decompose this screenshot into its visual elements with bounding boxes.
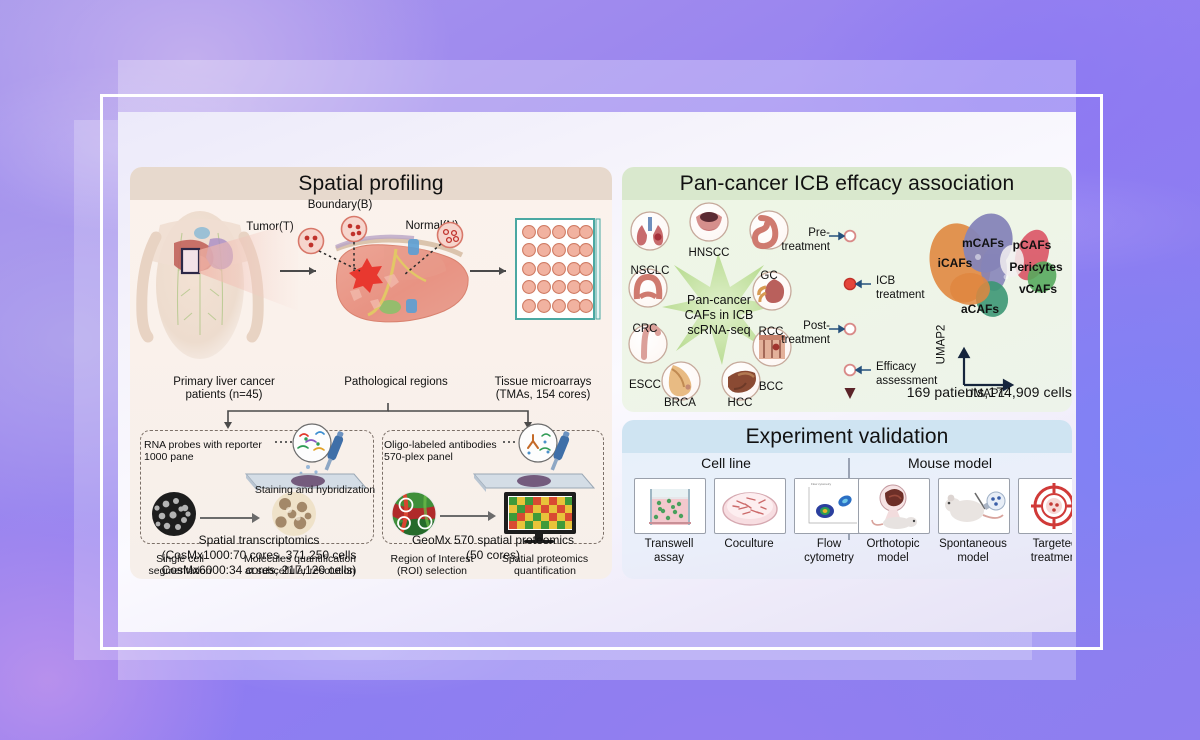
panel-spatial-title: Spatial profiling <box>298 173 443 194</box>
label-primary-patients: Primary liver cancer patients (n=45) <box>144 376 304 402</box>
caption-proteomics: GeoMx 570 spatial proteomics (50 cores) <box>378 533 608 563</box>
label-targeted: Targeted treatment <box>1014 537 1072 565</box>
label-timeline-post: Post- treatment <box>770 319 830 347</box>
label-cohort-counts: 169 patients,174,909 cells <box>872 386 1072 399</box>
thumb-spontaneous[interactable] <box>938 478 1010 534</box>
panel-exp-header: Experiment validation <box>622 420 1072 453</box>
quantification-image <box>272 492 316 536</box>
arrow-to-tma <box>470 267 506 275</box>
svg-text:Flow cytometry: Flow cytometry <box>811 482 832 486</box>
label-cancer-HNSCC: HNSCC <box>683 247 735 260</box>
label-umap-Pericytes: Pericytes <box>1004 261 1068 274</box>
label-transwell: Transwell assay <box>628 537 710 565</box>
label-pan-cancer-center: Pan-cancer CAFs in ICB scRNA-seq <box>664 293 774 338</box>
segmentation-image <box>152 492 196 536</box>
microscope-slide-2 <box>474 474 594 492</box>
label-cancer-ESCC: ESCC <box>623 379 667 392</box>
panel-icb-title: Pan-cancer ICB effcacy association <box>680 173 1015 194</box>
label-cancer-BRCA: BRCA <box>658 397 702 410</box>
caption-transcriptomics: Spatial transcriptomics (CosMx1000:70 co… <box>130 533 388 578</box>
label-spontaneous: Spontaneous model <box>928 537 1018 565</box>
group-label-mouse-model: Mouse model <box>880 457 1020 470</box>
human-torso-illustration <box>142 211 298 359</box>
label-cancer-GC: GC <box>751 270 787 283</box>
proteomics-illustration <box>382 430 602 542</box>
label-umap-pCAFs: pCAFs <box>1008 239 1056 252</box>
tissue-microarray-illustration <box>516 219 600 319</box>
label-cancer-NSCLC: NSCLC <box>625 265 675 278</box>
label-cancer-CRC: CRC <box>626 323 664 336</box>
organ-icon-BRCA <box>662 362 700 400</box>
label-cancer-HCC: HCC <box>720 397 760 410</box>
organ-icon-HNSCC <box>690 203 728 241</box>
panel-exp-title: Experiment validation <box>746 426 949 447</box>
liver-illustration <box>336 237 468 322</box>
label-umap-axis-y: UMAP2 <box>936 320 949 370</box>
timeline-node-icb <box>844 278 855 289</box>
thumb-transwell[interactable] <box>634 478 706 534</box>
thumb-coculture[interactable] <box>714 478 786 534</box>
label-staining: Staining and hybridization <box>246 484 384 496</box>
roi-image <box>392 492 436 536</box>
label-orthotopic: Orthotopic model <box>852 537 934 565</box>
timeline-node-pre <box>845 231 856 242</box>
label-umap-aCAFs: aCAFs <box>956 303 1004 316</box>
panel-experiment-validation: Experiment validation Cell line Mouse mo… <box>622 420 1072 579</box>
label-umap-iCAFs: iCAFs <box>932 257 978 270</box>
panel-spatial-header: Spatial profiling <box>130 167 612 200</box>
organ-icon-NSCLC <box>631 212 669 250</box>
thumb-flow-cytometry[interactable]: Flow cytometry <box>794 478 866 534</box>
panel-icb-header: Pan-cancer ICB effcacy association <box>622 167 1072 200</box>
timeline-node-efficacy <box>845 365 856 376</box>
thumb-orthotopic[interactable] <box>858 478 930 534</box>
panel-icb-association: Pan-cancer ICB effcacy association <box>622 167 1072 412</box>
label-coculture: Coculture <box>708 537 790 551</box>
timeline-node-post <box>845 324 856 335</box>
label-umap-mCAFs: mCAFs <box>958 237 1008 250</box>
thumb-targeted[interactable] <box>1018 478 1072 534</box>
label-cancer-BCC: BCC <box>752 381 790 394</box>
label-tissue-microarrays: Tissue microarrays (TMAs, 154 cores) <box>478 376 608 402</box>
spatial-flow-illustration <box>130 203 612 378</box>
label-timeline-pre: Pre- treatment <box>774 226 830 254</box>
panel-spatial-profiling: Spatial profiling Boundary(B) Tumor(T) N… <box>130 167 612 579</box>
group-label-cell-line: Cell line <box>666 457 786 470</box>
label-pathological-regions: Pathological regions <box>316 376 476 389</box>
label-umap-vCAFs: vCAFs <box>1014 283 1062 296</box>
